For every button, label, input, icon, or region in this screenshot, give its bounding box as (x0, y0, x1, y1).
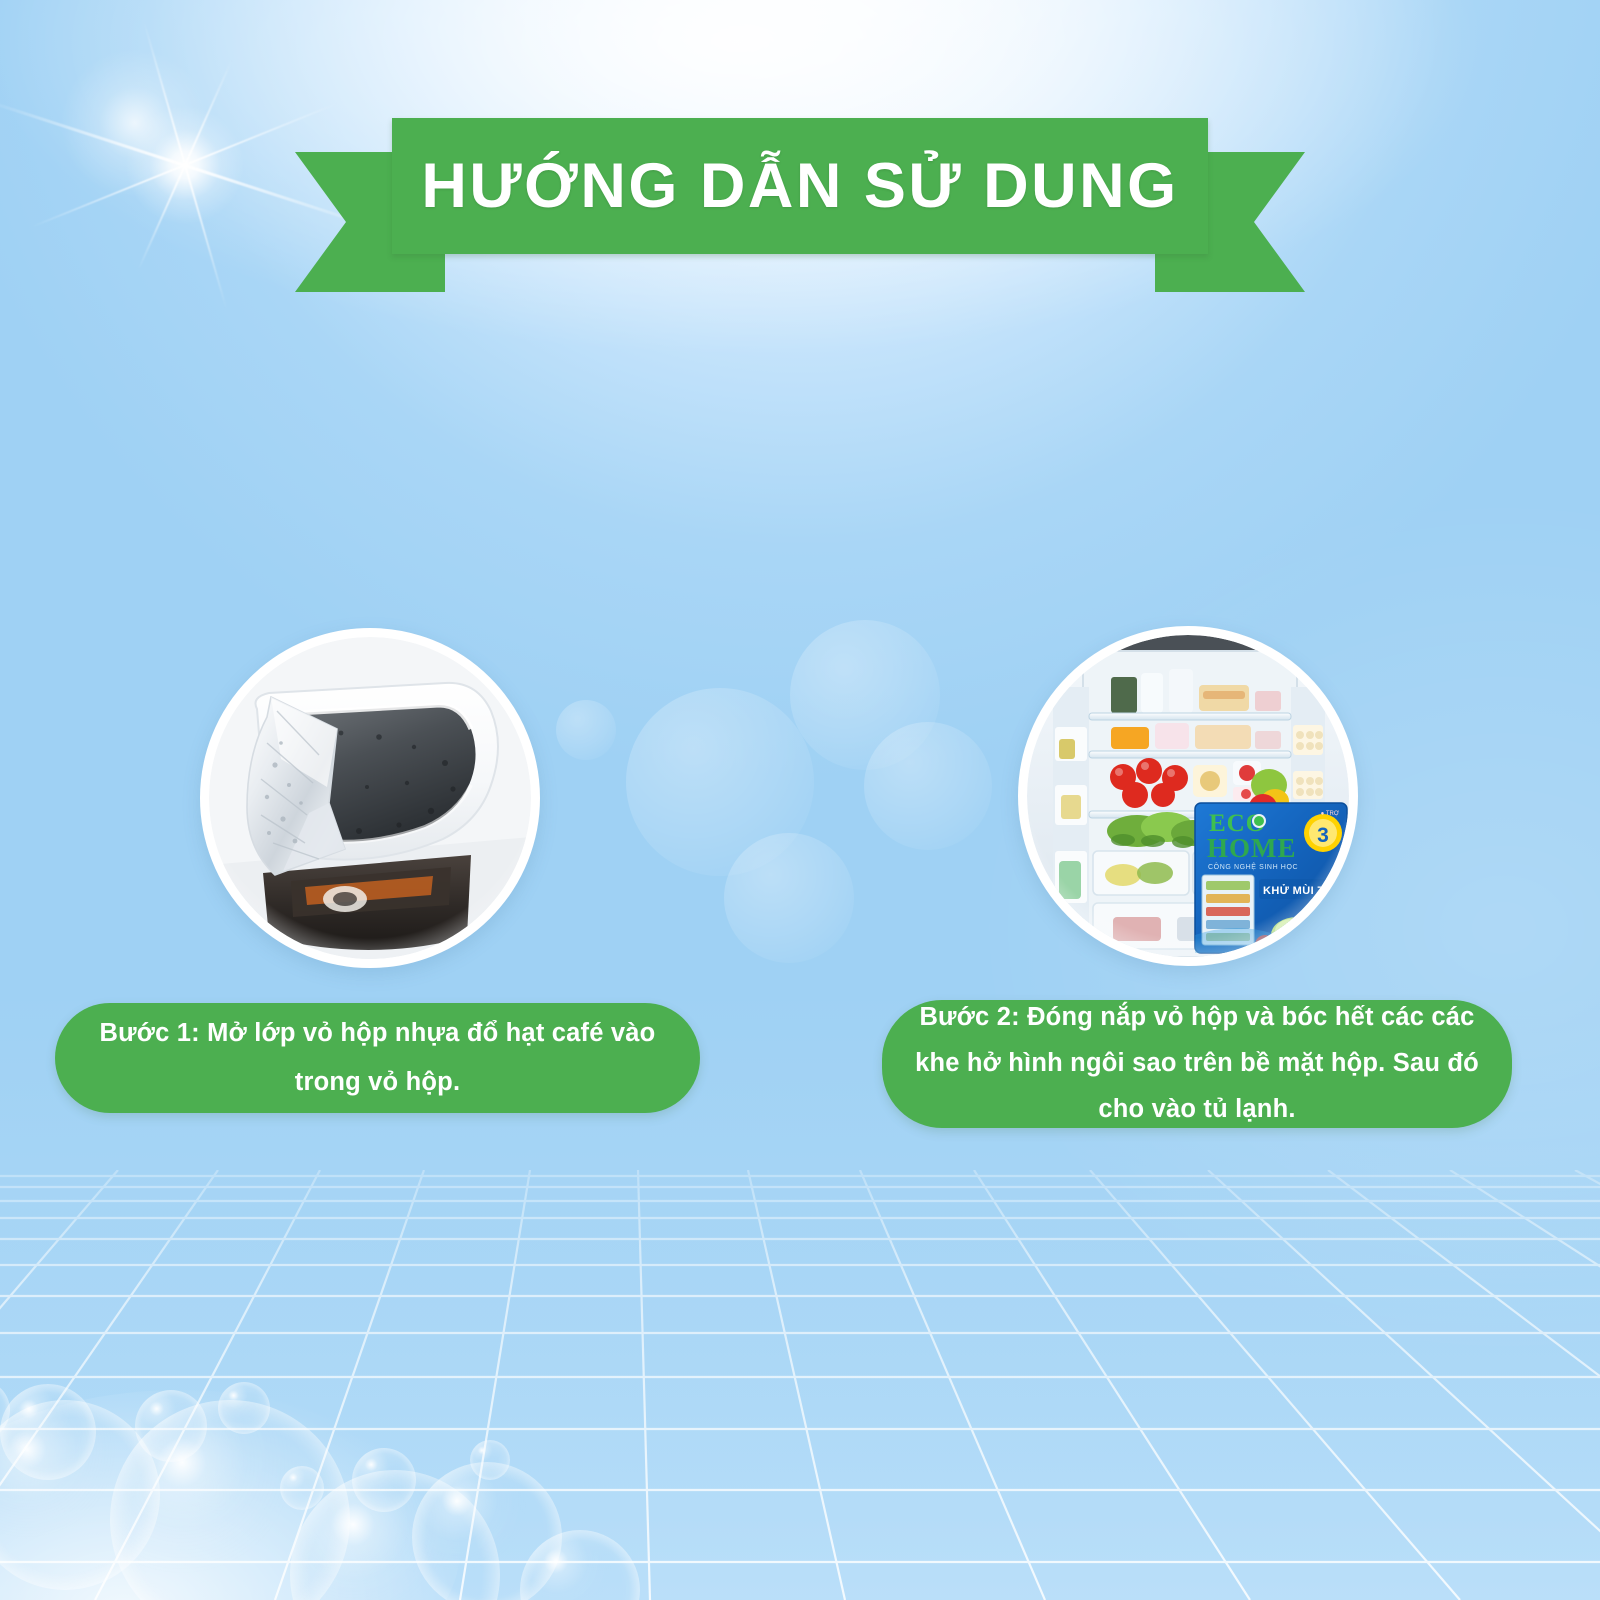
step-2-caption-text: Bước 2: Đóng nắp vỏ hộp và bóc hết các c… (882, 995, 1512, 1133)
flare-glow-secondary (60, 48, 210, 198)
bokeh-circle (724, 833, 854, 963)
bokeh-circle (556, 700, 616, 760)
photo-inner: ECO HOME CÔNG NGHỆ SINH HỌC 3 ● TRỢ (1027, 635, 1349, 957)
step-1-caption: Bước 1: Mở lớp vỏ hộp nhựa đổ hạt café v… (55, 1003, 700, 1113)
header-ribbon-banner: HƯỚNG DẪN SỬ DUNG (295, 118, 1305, 293)
bokeh-circle (790, 620, 940, 770)
page-title: HƯỚNG DẪN SỬ DUNG (421, 155, 1178, 218)
photo-inner (209, 637, 531, 959)
opened-container-foil-peeled-photo (200, 628, 540, 968)
step-2-caption: Bước 2: Đóng nắp vỏ hộp và bóc hết các c… (882, 1000, 1512, 1128)
poster-canvas: HƯỚNG DẪN SỬ DUNG (0, 0, 1600, 1600)
step-1-caption-text: Bước 1: Mở lớp vỏ hộp nhựa đổ hạt café v… (55, 1009, 700, 1107)
ribbon-band: HƯỚNG DẪN SỬ DUNG (392, 118, 1208, 254)
open-refrigerator-with-product-photo: ECO HOME CÔNG NGHỆ SINH HỌC 3 ● TRỢ (1018, 626, 1358, 966)
perspective-grid-floor (0, 1170, 1600, 1600)
